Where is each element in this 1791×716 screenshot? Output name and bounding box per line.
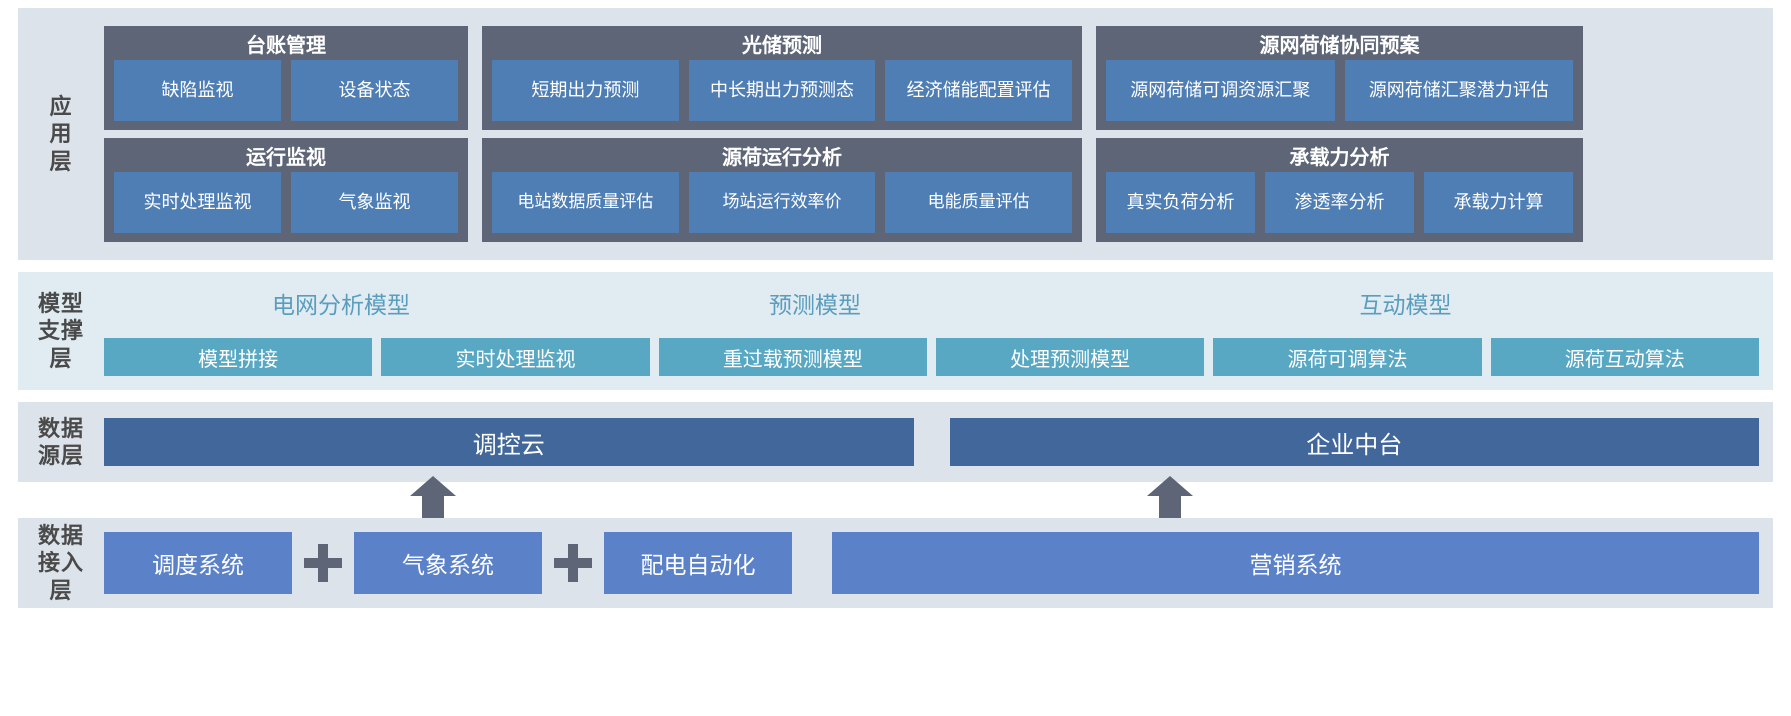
model-headings: 电网分析模型 预测模型 互动模型 <box>104 286 1759 320</box>
app-item[interactable]: 短期出力预测 <box>492 60 679 121</box>
group-title: 台账管理 <box>246 32 326 60</box>
model-item[interactable]: 重过载预测模型 <box>659 338 927 376</box>
model-heading: 互动模型 <box>1052 286 1759 320</box>
layer-label-line: 应 <box>49 93 72 121</box>
app-item[interactable]: 缺陷监视 <box>114 60 281 121</box>
group-title: 承载力分析 <box>1290 144 1390 172</box>
layer-label-line: 层 <box>49 345 72 373</box>
layer-label-line: 数据 <box>38 415 84 443</box>
data-access-item-qixiangxitong[interactable]: 气象系统 <box>354 532 542 594</box>
app-item[interactable]: 场站运行效率价 <box>689 172 876 233</box>
app-item[interactable]: 经济储能配置评估 <box>885 60 1072 121</box>
app-item[interactable]: 源网荷储汇聚潜力评估 <box>1345 60 1574 121</box>
data-access-items: 调度系统 气象系统 配电自动化 营销系统 <box>104 518 1773 608</box>
layer-label-line: 用 <box>49 120 72 148</box>
layer-label-model-support: 模型 支撑 层 <box>18 272 104 390</box>
arrow-up-icon-left <box>410 476 456 520</box>
model-item[interactable]: 模型拼接 <box>104 338 372 376</box>
layer-label-application: 应 用 层 <box>18 8 104 260</box>
layer-data-source: 数据 源层 调控云 企业中台 <box>18 402 1773 482</box>
model-heading: 电网分析模型 <box>104 286 578 320</box>
app-item[interactable]: 渗透率分析 <box>1265 172 1414 233</box>
group-items: 真实负荷分析 渗透率分析 承载力计算 <box>1106 172 1573 233</box>
group-title: 运行监视 <box>246 144 326 172</box>
group-title: 源网荷储协同预案 <box>1260 32 1420 60</box>
group-items: 实时处理监视 气象监视 <box>114 172 458 233</box>
layer-label-line: 数据 <box>38 522 84 550</box>
app-item[interactable]: 源网荷储可调资源汇聚 <box>1106 60 1335 121</box>
data-source-item-diaokongyun[interactable]: 调控云 <box>104 418 914 466</box>
application-row: 台账管理 缺陷监视 设备状态 光储预测 短期出力预测 中长期出力预测态 经济储能… <box>104 26 1759 130</box>
data-access-item-diaoduxitong[interactable]: 调度系统 <box>104 532 292 594</box>
app-item[interactable]: 设备状态 <box>291 60 458 121</box>
app-item[interactable]: 真实负荷分析 <box>1106 172 1255 233</box>
app-item[interactable]: 中长期出力预测态 <box>689 60 876 121</box>
plus-icon <box>292 544 354 582</box>
data-source-item-qiyezhongtai[interactable]: 企业中台 <box>950 418 1760 466</box>
group-taizhangguanli[interactable]: 台账管理 缺陷监视 设备状态 <box>104 26 468 130</box>
group-chengzailifenxi[interactable]: 承载力分析 真实负荷分析 渗透率分析 承载力计算 <box>1096 138 1583 242</box>
group-items: 源网荷储可调资源汇聚 源网荷储汇聚潜力评估 <box>1106 60 1573 121</box>
model-item[interactable]: 源荷可调算法 <box>1213 338 1481 376</box>
app-item[interactable]: 气象监视 <box>291 172 458 233</box>
group-yuanheyunxingfenxi[interactable]: 源荷运行分析 电站数据质量评估 场站运行效率价 电能质量评估 <box>482 138 1082 242</box>
layer-label-line: 支撑 <box>38 317 84 345</box>
layer-label-line: 层 <box>49 148 72 176</box>
layer-label-line: 源层 <box>38 442 84 470</box>
app-item[interactable]: 电能质量评估 <box>885 172 1072 233</box>
group-yunxingjianshi[interactable]: 运行监视 实时处理监视 气象监视 <box>104 138 468 242</box>
layer-label-line: 模型 <box>38 290 84 318</box>
model-items: 模型拼接 实时处理监视 重过载预测模型 处理预测模型 源荷可调算法 源荷互动算法 <box>104 338 1759 376</box>
layer-application: 应 用 层 台账管理 缺陷监视 设备状态 光储预测 短期出力预测 中长 <box>18 8 1773 260</box>
application-groups: 台账管理 缺陷监视 设备状态 光储预测 短期出力预测 中长期出力预测态 经济储能… <box>104 8 1773 260</box>
group-yuanwanghechu-xietongyuan[interactable]: 源网荷储协同预案 源网荷储可调资源汇聚 源网荷储汇聚潜力评估 <box>1096 26 1583 130</box>
model-item[interactable]: 实时处理监视 <box>381 338 649 376</box>
application-row: 运行监视 实时处理监视 气象监视 源荷运行分析 电站数据质量评估 场站运行效率价… <box>104 138 1759 242</box>
data-source-items: 调控云 企业中台 <box>104 402 1773 482</box>
model-item[interactable]: 源荷互动算法 <box>1491 338 1759 376</box>
arrow-up-icon-right <box>1147 476 1193 520</box>
group-items: 缺陷监视 设备状态 <box>114 60 458 121</box>
layer-model-support: 模型 支撑 层 电网分析模型 预测模型 互动模型 模型拼接 实时处理监视 重过载… <box>18 272 1773 390</box>
data-access-item-peidianzidonghua[interactable]: 配电自动化 <box>604 532 792 594</box>
layer-label-line: 接入 <box>38 549 84 577</box>
app-item[interactable]: 承载力计算 <box>1424 172 1573 233</box>
group-items: 短期出力预测 中长期出力预测态 经济储能配置评估 <box>492 60 1072 121</box>
plus-icon <box>542 544 604 582</box>
layer-label-data-source: 数据 源层 <box>18 402 104 482</box>
model-support-content: 电网分析模型 预测模型 互动模型 模型拼接 实时处理监视 重过载预测模型 处理预… <box>104 272 1773 390</box>
app-item[interactable]: 实时处理监视 <box>114 172 281 233</box>
layer-label-line: 层 <box>49 577 72 605</box>
app-item[interactable]: 电站数据质量评估 <box>492 172 679 233</box>
group-title: 光储预测 <box>742 32 822 60</box>
group-title: 源荷运行分析 <box>722 144 842 172</box>
group-guangchuyuce[interactable]: 光储预测 短期出力预测 中长期出力预测态 经济储能配置评估 <box>482 26 1082 130</box>
architecture-diagram: 应 用 层 台账管理 缺陷监视 设备状态 光储预测 短期出力预测 中长 <box>0 0 1791 716</box>
layer-data-access: 数据 接入 层 调度系统 气象系统 配电自动化 营销系统 <box>18 518 1773 608</box>
layer-label-data-access: 数据 接入 层 <box>18 518 104 608</box>
group-items: 电站数据质量评估 场站运行效率价 电能质量评估 <box>492 172 1072 233</box>
model-heading: 预测模型 <box>578 286 1052 320</box>
data-access-item-yingxiaoxitong[interactable]: 营销系统 <box>832 532 1759 594</box>
model-item[interactable]: 处理预测模型 <box>936 338 1204 376</box>
